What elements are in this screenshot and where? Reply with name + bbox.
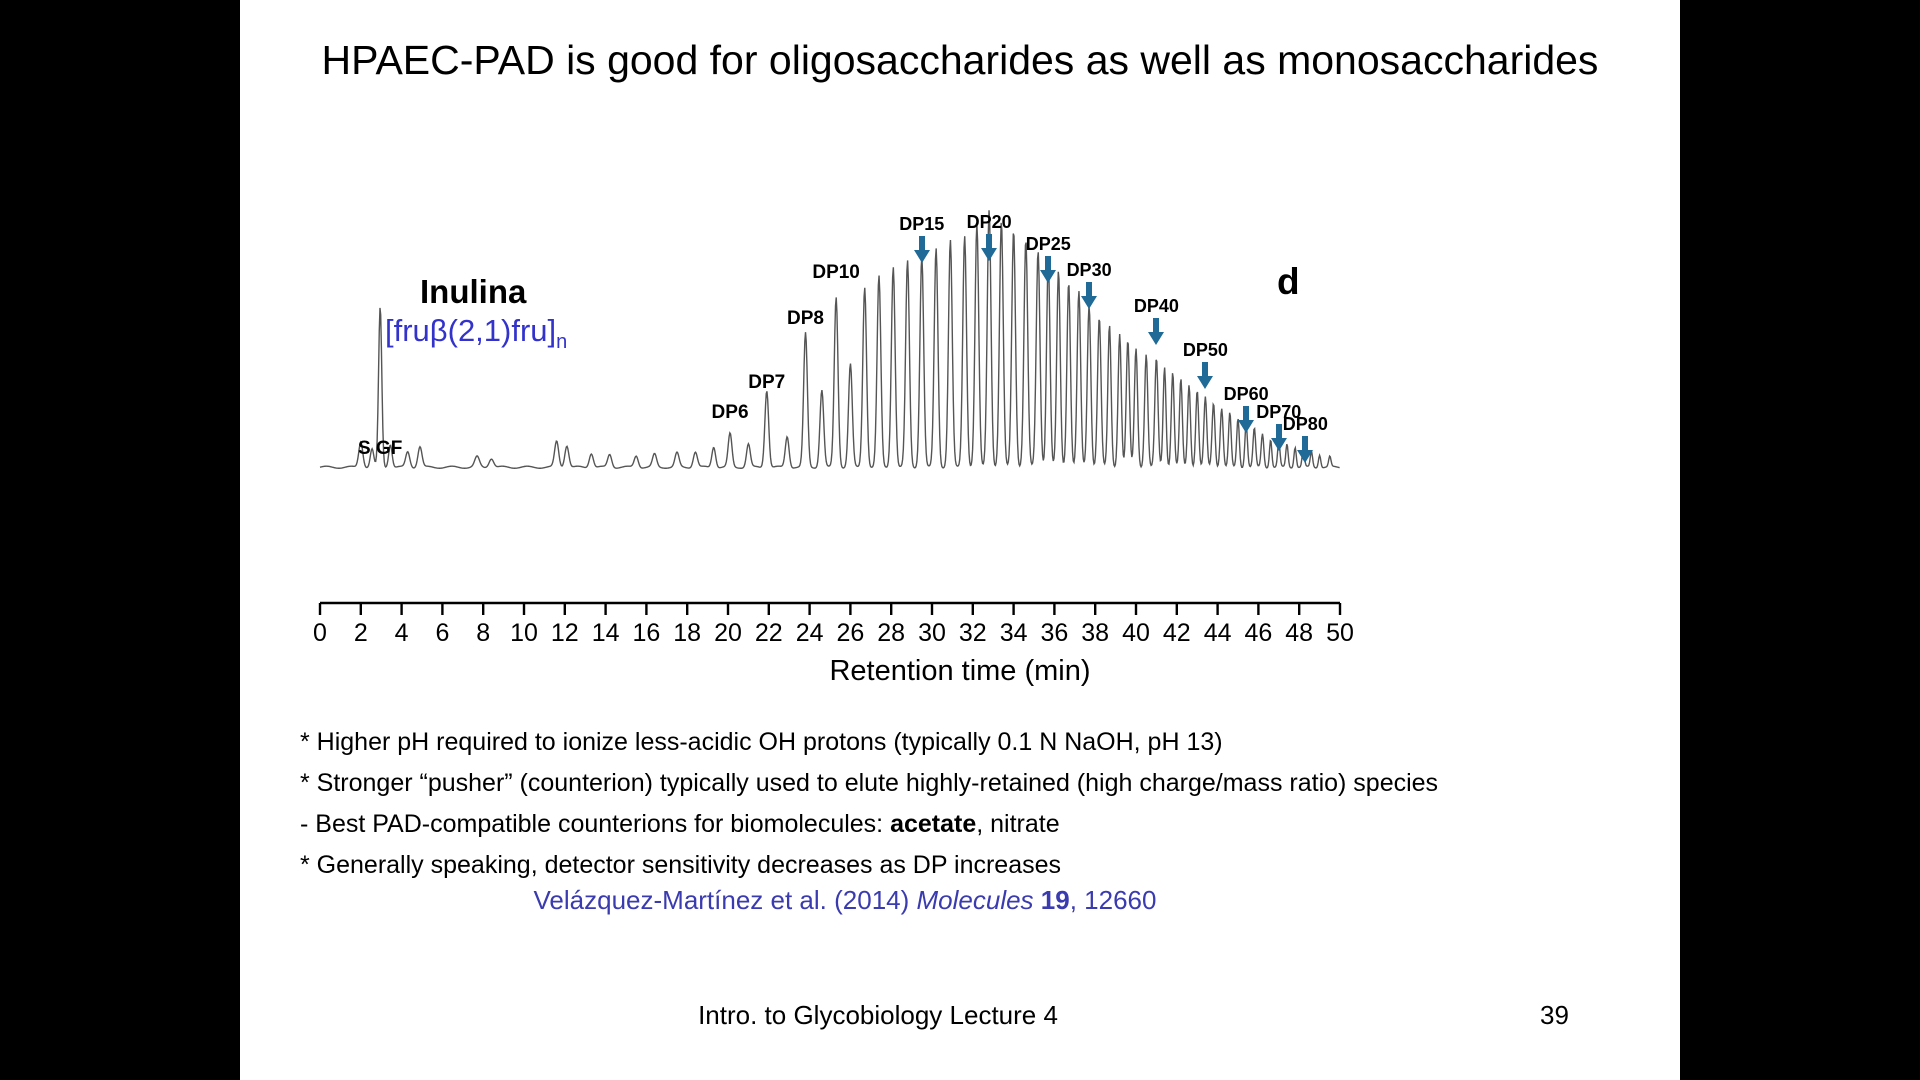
bullet-1: * Higher pH required to ionize less-acid…	[300, 722, 1223, 763]
peak-label-dp30: DP30	[1044, 260, 1134, 281]
down-arrow-icon	[980, 234, 998, 262]
peak-label-dp6: DP6	[685, 402, 775, 424]
peak-label-dp10: DP10	[791, 262, 881, 284]
peak-label-dp20: DP20	[944, 212, 1034, 233]
panel-letter-label: d	[1277, 261, 1300, 303]
down-arrow-icon	[1296, 436, 1314, 464]
peak-label-dp8: DP8	[761, 308, 851, 330]
bullet-3-bold: acetate	[890, 810, 976, 838]
x-tick-label-50: 50	[1310, 619, 1370, 648]
peak-label-s-gf: S GF	[335, 438, 425, 460]
slide-canvas: HPAEC-PAD is good for oligosaccharides a…	[240, 0, 1680, 1080]
peak-label-dp40: DP40	[1111, 296, 1201, 317]
sample-name-label: Inulina	[420, 273, 526, 311]
slide-title: HPAEC-PAD is good for oligosaccharides a…	[240, 34, 1680, 86]
chemical-formula-label: [fruβ(2,1)fru]n	[385, 313, 567, 354]
citation-line: Velázquez-Martínez et al. (2014) Molecul…	[240, 885, 1450, 916]
bullet-2: * Stronger “pusher” (counterion) typical…	[300, 763, 1438, 804]
down-arrow-icon	[913, 236, 931, 264]
chromatogram-trace	[240, 180, 1680, 600]
x-axis: 0246810121416182022242628303234363840424…	[240, 595, 1680, 655]
citation-volume: 19	[1034, 885, 1070, 915]
citation-journal: Molecules	[917, 885, 1034, 915]
footer-lecture-title: Intro. to Glycobiology Lecture 4	[240, 1000, 1516, 1031]
formula-main: [fruβ(2,1)fru]	[385, 313, 556, 348]
down-arrow-icon	[1080, 282, 1098, 310]
bullet-3-post: , nitrate	[976, 810, 1059, 838]
x-axis-title: Retention time (min)	[240, 655, 1680, 688]
citation-authors: Velázquez-Martínez et al. (2014)	[534, 885, 917, 915]
bullet-3: - Best PAD-compatible counterions for bi…	[300, 804, 1060, 845]
chromatogram-figure: Inulina [fruβ(2,1)fru]n d S GFDP6DP7DP8D…	[240, 180, 1680, 600]
peak-label-dp50: DP50	[1160, 340, 1250, 361]
citation-pages: , 12660	[1070, 885, 1157, 915]
bullet-3-pre: - Best PAD-compatible counterions for bi…	[300, 810, 890, 838]
peak-label-dp25: DP25	[1003, 234, 1093, 255]
peak-label-dp80: DP80	[1260, 414, 1350, 435]
peak-label-dp7: DP7	[722, 372, 812, 394]
bullet-4: * Generally speaking, detector sensitivi…	[300, 845, 1061, 886]
footer-page-number: 39	[1540, 1000, 1640, 1031]
formula-subscript: n	[556, 331, 567, 353]
